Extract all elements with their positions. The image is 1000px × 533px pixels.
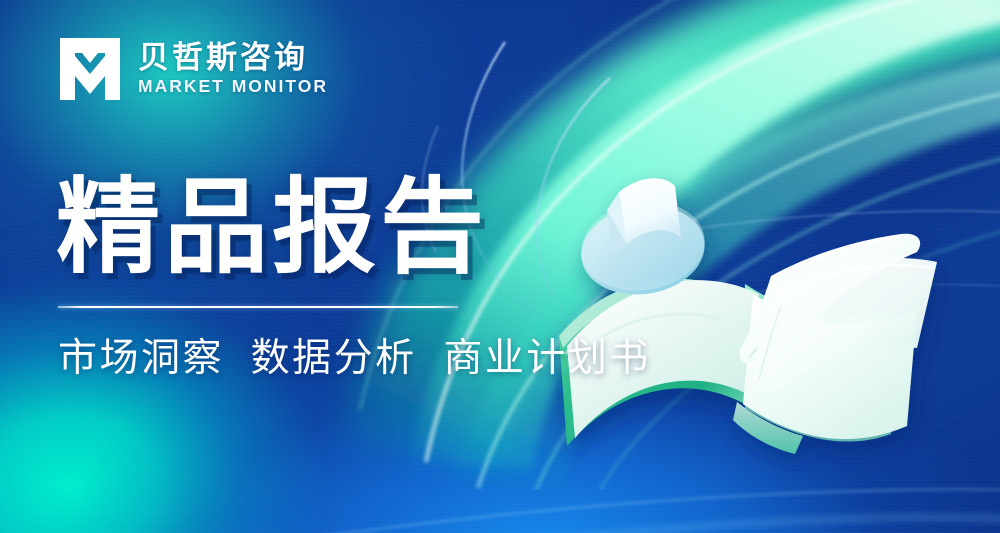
brand-name-cn: 贝哲斯咨询 [138,42,328,73]
title-divider [58,306,458,308]
brand-name-en: MARKET MONITOR [138,78,328,96]
page-title: 精品报告 [56,176,488,280]
brand-logo-text: 贝哲斯咨询 MARKET MONITOR [138,42,328,96]
report-banner: 贝哲斯咨询 MARKET MONITOR 精品报告 市场洞察 数据分析 商业计划… [0,0,1000,533]
brand-logo[interactable]: 贝哲斯咨询 MARKET MONITOR [58,36,328,102]
background-deep-vignette-topright [540,0,1000,277]
market-monitor-m-mark-icon [58,36,122,102]
subtitle: 市场洞察 数据分析 商业计划书 [58,336,651,383]
